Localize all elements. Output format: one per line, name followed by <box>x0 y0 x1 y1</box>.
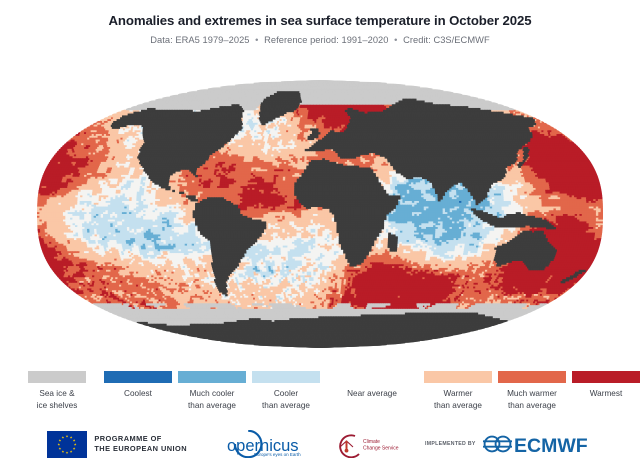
legend-swatch-0 <box>28 371 86 383</box>
eu-flag-icon <box>47 431 87 458</box>
legend-item-6: Much warmerthan average <box>498 371 566 411</box>
legend-item-4: Near average <box>338 371 406 411</box>
subtitle-data: Data: ERA5 1979–2025 <box>150 35 249 45</box>
sst-anomaly-map <box>0 56 640 366</box>
c3s-line2: Change Service <box>363 446 399 452</box>
c3s-logo: Climate Change Service <box>331 430 405 458</box>
copernicus-mark-icon: opernicus Europe's eyes on Earth <box>207 430 311 458</box>
legend-swatch-5 <box>424 371 492 383</box>
c3s-mark-icon: Climate Change Service <box>331 430 405 458</box>
legend-label-7: Warmest <box>572 388 640 400</box>
page-title: Anomalies and extremes in sea surface te… <box>0 13 640 29</box>
subtitle-separator-1: • <box>252 35 261 45</box>
ecmwf-mark-icon: ECMWF <box>481 431 593 457</box>
subtitle-credit: Credit: C3S/ECMWF <box>403 35 490 45</box>
legend-item-7: Warmest <box>572 371 640 411</box>
subtitle-separator-2: • <box>391 35 400 45</box>
eu-logo-line1: PROGRAMME OF <box>94 434 161 443</box>
legend-item-2: Much coolerthan average <box>178 371 246 411</box>
legend-label-1: Coolest <box>104 388 172 400</box>
legend-label-0: Sea ice &ice shelves <box>28 388 86 411</box>
legend-item-1: Coolest <box>104 371 172 411</box>
ecmwf-name: ECMWF <box>514 435 588 457</box>
copernicus-tagline: Europe's eyes on Earth <box>254 452 301 457</box>
ecmwf-logo: IMPLEMENTED BY ECMWF <box>425 431 593 457</box>
legend: Sea ice &ice shelvesCoolestMuch coolerth… <box>0 371 640 419</box>
eu-logo-line2: THE EUROPEAN UNION <box>94 444 187 453</box>
subtitle-reference: Reference period: 1991–2020 <box>264 35 388 45</box>
header: Anomalies and extremes in sea surface te… <box>0 0 640 46</box>
legend-label-5: Warmerthan average <box>424 388 492 411</box>
legend-label-2: Much coolerthan average <box>178 388 246 411</box>
eu-stars-icon <box>47 431 87 458</box>
eu-logo: PROGRAMME OF THE EUROPEAN UNION <box>47 431 187 458</box>
c3s-line1: Climate <box>363 439 380 445</box>
footer-logos: PROGRAMME OF THE EUROPEAN UNION opernicu… <box>0 424 640 464</box>
legend-label-6: Much warmerthan average <box>498 388 566 411</box>
legend-item-0: Sea ice &ice shelves <box>28 371 86 411</box>
legend-swatch-4 <box>338 371 406 383</box>
copernicus-logo: opernicus Europe's eyes on Earth <box>207 430 311 458</box>
eu-logo-text: PROGRAMME OF THE EUROPEAN UNION <box>94 434 187 453</box>
legend-item-5: Warmerthan average <box>424 371 492 411</box>
ecmwf-implemented-by: IMPLEMENTED BY <box>425 441 476 447</box>
legend-swatch-7 <box>572 371 640 383</box>
legend-item-3: Coolerthan average <box>252 371 320 411</box>
legend-swatch-2 <box>178 371 246 383</box>
legend-items: Sea ice &ice shelvesCoolestMuch coolerth… <box>28 371 640 411</box>
legend-swatch-1 <box>104 371 172 383</box>
legend-label-4: Near average <box>338 388 406 400</box>
infographic-root: Anomalies and extremes in sea surface te… <box>0 0 640 464</box>
legend-swatch-3 <box>252 371 320 383</box>
subtitle: Data: ERA5 1979–2025 • Reference period:… <box>0 35 640 46</box>
map-canvas <box>0 56 640 366</box>
legend-swatch-6 <box>498 371 566 383</box>
legend-label-3: Coolerthan average <box>252 388 320 411</box>
